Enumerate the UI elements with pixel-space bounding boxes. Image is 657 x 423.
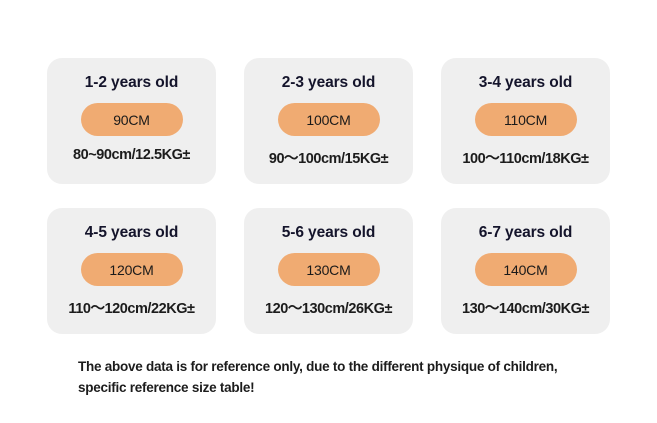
- size-pill-label: 130CM: [306, 262, 350, 278]
- card-title: 4-5 years old: [85, 224, 178, 241]
- size-pill-label: 140CM: [503, 262, 547, 278]
- size-card[interactable]: 6-7 years old 140CM 130～140cm/30KG±: [441, 208, 610, 334]
- size-pill-label: 110CM: [504, 112, 547, 128]
- size-card-grid: 1-2 years old 90CM 80~90cm/12.5KG± 2-3 y…: [47, 58, 610, 334]
- footer-disclaimer: The above data is for reference only, du…: [78, 357, 583, 399]
- card-detail: 100～110cm/18KG±: [462, 147, 588, 168]
- size-pill: 100CM: [278, 103, 380, 136]
- size-pill-label: 120CM: [109, 262, 153, 278]
- size-card[interactable]: 4-5 years old 120CM 110～120cm/22KG±: [47, 208, 216, 334]
- size-pill: 90CM: [81, 103, 183, 136]
- size-pill: 120CM: [81, 253, 183, 286]
- card-detail: 80~90cm/12.5KG±: [73, 147, 190, 163]
- card-title: 5-6 years old: [282, 224, 375, 241]
- card-title: 1-2 years old: [85, 74, 178, 91]
- size-pill-label: 100CM: [306, 112, 350, 128]
- card-detail: 120～130cm/26KG±: [265, 297, 392, 318]
- card-detail: 110～120cm/22KG±: [68, 297, 194, 318]
- size-card[interactable]: 1-2 years old 90CM 80~90cm/12.5KG±: [47, 58, 216, 184]
- card-title: 6-7 years old: [479, 224, 572, 241]
- size-pill: 110CM: [475, 103, 577, 136]
- card-title: 3-4 years old: [479, 74, 572, 91]
- size-pill-label: 90CM: [113, 112, 150, 128]
- size-card[interactable]: 5-6 years old 130CM 120～130cm/26KG±: [244, 208, 413, 334]
- size-chart-panel: 1-2 years old 90CM 80~90cm/12.5KG± 2-3 y…: [0, 0, 657, 423]
- card-detail: 130～140cm/30KG±: [462, 297, 589, 318]
- card-detail: 90～100cm/15KG±: [269, 147, 388, 168]
- size-card[interactable]: 2-3 years old 100CM 90～100cm/15KG±: [244, 58, 413, 184]
- size-pill: 130CM: [278, 253, 380, 286]
- size-pill: 140CM: [475, 253, 577, 286]
- size-card[interactable]: 3-4 years old 110CM 100～110cm/18KG±: [441, 58, 610, 184]
- card-title: 2-3 years old: [282, 74, 375, 91]
